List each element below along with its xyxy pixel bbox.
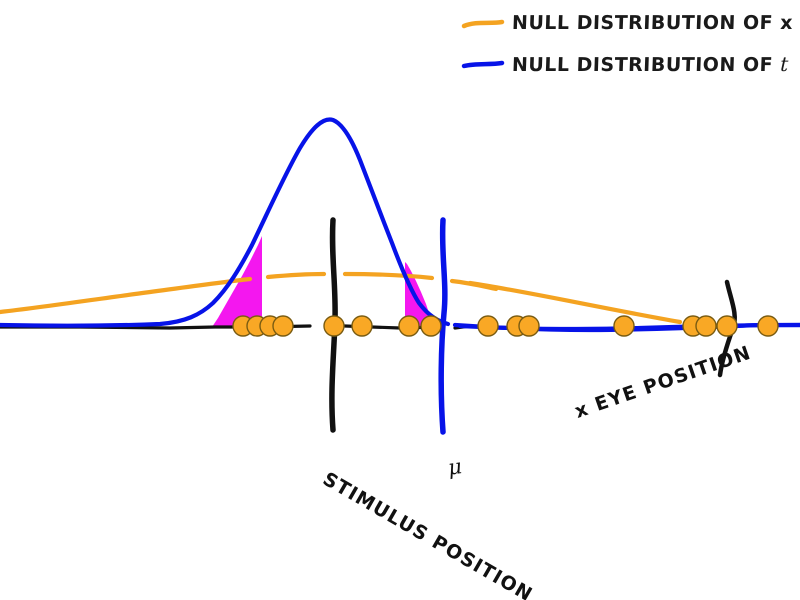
eye-position-sample-dot [696, 316, 716, 336]
null-distribution-t-curve [0, 120, 800, 330]
eye-position-sample-dot [717, 316, 737, 336]
mu-vertical-line [441, 220, 445, 432]
eye-position-sample-dot [478, 316, 498, 336]
eye-position-sample-dot [614, 316, 634, 336]
legend-symbol-x: x [780, 12, 794, 34]
eye-position-sample-dot [399, 316, 419, 336]
eye-position-sample-dot [324, 316, 344, 336]
orange-curve-segment-1 [0, 279, 250, 312]
legend-symbol-t: t [780, 52, 789, 76]
legend-item-null-distribution-t: NULL DISTRIBUTION OF t [512, 52, 790, 76]
eye-position-sample-dot [421, 316, 441, 336]
figure-canvas: NULL DISTRIBUTION OF x NULL DISTRIBUTION… [0, 0, 800, 600]
orange-curve-segment-5 [470, 283, 680, 322]
orange-curve-segment-3 [345, 274, 432, 278]
eye-position-sample-dot [352, 316, 372, 336]
eye-position-sample-dot [273, 316, 293, 336]
legend-swatches [464, 22, 502, 66]
blue-curve-left-body [0, 120, 448, 326]
legend-swatch-blue [464, 63, 502, 66]
legend-label-t-prefix: NULL DISTRIBUTION OF [512, 54, 781, 76]
null-distribution-x-curve [0, 274, 680, 322]
orange-curve-segment-2 [268, 274, 324, 277]
eye-position-sample-dot [519, 316, 539, 336]
eye-position-sample-dot [758, 316, 778, 336]
legend-label-x-prefix: NULL DISTRIBUTION OF [512, 12, 781, 34]
legend-swatch-orange [464, 22, 502, 26]
legend-item-null-distribution-x: NULL DISTRIBUTION OF x [512, 12, 794, 34]
